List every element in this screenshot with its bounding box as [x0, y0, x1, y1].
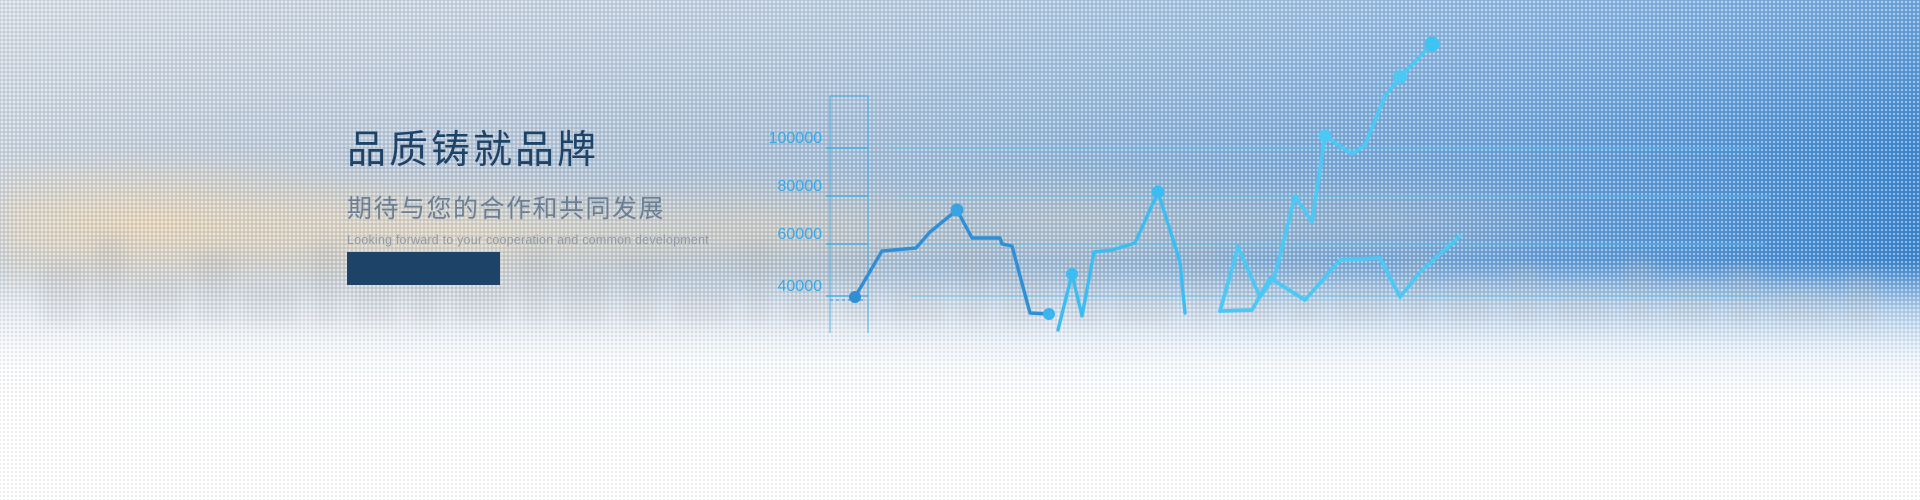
- chart-point-marker: [1319, 130, 1332, 143]
- chart-series-1: [855, 210, 1049, 314]
- y-tick-label: 100000: [769, 130, 822, 147]
- hero-banner: 100000 80000 60000 40000: [0, 0, 1920, 500]
- chart-series-4: [1220, 236, 1460, 311]
- y-tick-label: 80000: [778, 178, 823, 195]
- chart-point-marker: [1425, 37, 1440, 52]
- chart-frame: [830, 96, 868, 333]
- chart-point-marker: [1393, 70, 1407, 84]
- line-chart: 100000 80000 60000 40000: [760, 0, 1920, 500]
- cta-button[interactable]: [347, 252, 500, 285]
- chart-point-marker: [849, 291, 861, 303]
- y-tick-label: 40000: [778, 278, 823, 295]
- chart-point-marker: [1152, 186, 1165, 199]
- chart-point-marker: [1066, 268, 1078, 280]
- y-tick-label: 60000: [778, 226, 823, 243]
- page-title: 品质铸就品牌: [347, 126, 767, 176]
- chart-series-2: [1058, 192, 1185, 330]
- chart-series-3: [1220, 44, 1432, 311]
- subtitle-chinese: 期待与您的合作和共同发展: [347, 193, 767, 226]
- chart-point-marker: [1043, 308, 1055, 320]
- subtitle-english: Looking forward to your cooperation and …: [347, 232, 767, 249]
- chart-point-marker: [951, 204, 964, 217]
- hero-copy: 品质铸就品牌 期待与您的合作和共同发展 Looking forward to y…: [347, 126, 767, 249]
- chart-y-axis-labels: 100000 80000 60000 40000: [769, 130, 822, 295]
- chart-svg: 100000 80000 60000 40000: [760, 0, 1920, 500]
- chart-tick-marks: [826, 148, 868, 296]
